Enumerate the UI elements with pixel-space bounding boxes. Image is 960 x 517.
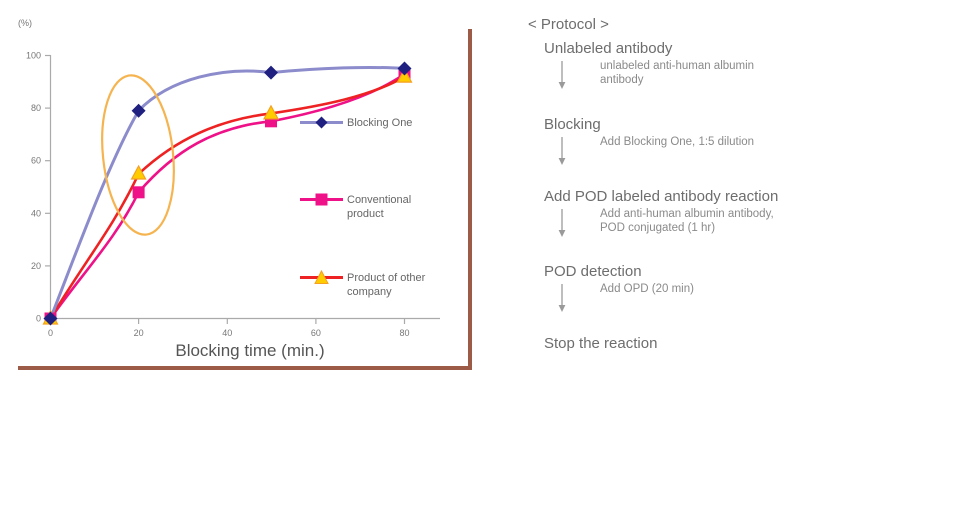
protocol-step-head: Blocking bbox=[544, 116, 950, 133]
protocol-step-1: Unlabeled antibody unlabeled anti-human … bbox=[520, 40, 950, 87]
x-axis-ticks bbox=[51, 319, 405, 325]
legend-item-conventional-product[interactable]: Conventional product bbox=[300, 194, 411, 221]
protocol-step-head: POD detection bbox=[544, 263, 950, 280]
legend: Blocking One Conventional product Produc… bbox=[300, 117, 426, 299]
y-axis-ticks bbox=[45, 56, 51, 319]
protocol-step-head: Add POD labeled antibody reaction bbox=[544, 188, 950, 205]
legend-label: Blocking One bbox=[347, 117, 412, 129]
legend-item-blocking-one[interactable]: Blocking One bbox=[300, 117, 412, 130]
y-tick-label: 40 bbox=[31, 208, 41, 218]
x-tick-label: 0 bbox=[48, 328, 53, 338]
protocol-step-5: Stop the reaction bbox=[520, 335, 950, 352]
x-tick-label: 80 bbox=[399, 328, 409, 338]
legend-label: Conventional bbox=[347, 194, 411, 206]
legend-label: Product of other bbox=[347, 272, 426, 284]
y-axis-unit-label: (%) bbox=[18, 18, 32, 28]
protocol-step-4: POD detection Add OPD (20 min) bbox=[520, 263, 950, 298]
legend-item-product-of-other-company[interactable]: Product of other company bbox=[300, 271, 426, 298]
legend-label-wrap: company bbox=[347, 286, 392, 298]
y-tick-label: 0 bbox=[36, 314, 41, 324]
protocol-step-head: Unlabeled antibody bbox=[544, 40, 950, 57]
y-tick-label: 80 bbox=[31, 103, 41, 113]
marker-square bbox=[133, 186, 145, 198]
down-arrow-icon bbox=[556, 283, 568, 313]
y-axis-tick-labels: 100 80 60 40 20 0 bbox=[26, 51, 41, 324]
protocol-step-note: Add OPD (20 min) bbox=[600, 282, 950, 296]
protocol-title: < Protocol > bbox=[528, 16, 609, 33]
protocol-panel: < Protocol > Unlabeled antibody unlabele… bbox=[520, 0, 950, 400]
legend-marker-square bbox=[316, 194, 328, 206]
marker-diamond bbox=[264, 66, 278, 80]
y-tick-label: 60 bbox=[31, 156, 41, 166]
legend-label-wrap: product bbox=[347, 208, 384, 220]
protocol-step-3: Add POD labeled antibody reaction Add an… bbox=[520, 188, 950, 235]
x-tick-label: 20 bbox=[134, 328, 144, 338]
protocol-step-note: Add anti-human albumin antibody, POD con… bbox=[600, 207, 950, 235]
line-chart: 100 80 60 40 20 0 (%) 0 20 40 60 80 Bloc… bbox=[0, 0, 500, 390]
down-arrow-icon bbox=[556, 208, 568, 238]
x-axis-tick-labels: 0 20 40 60 80 bbox=[48, 328, 410, 338]
down-arrow-icon bbox=[556, 60, 568, 90]
y-tick-label: 100 bbox=[26, 51, 41, 61]
protocol-step-2: Blocking Add Blocking One, 1:5 dilution bbox=[520, 116, 950, 151]
legend-marker-diamond bbox=[316, 117, 328, 129]
protocol-step-head: Stop the reaction bbox=[544, 335, 950, 352]
x-tick-label: 60 bbox=[311, 328, 321, 338]
x-axis-title: Blocking time (min.) bbox=[175, 341, 324, 360]
y-tick-label: 20 bbox=[31, 261, 41, 271]
protocol-step-note: unlabeled anti-human albumin antibody bbox=[600, 59, 950, 87]
highlight-ellipse bbox=[95, 72, 181, 238]
down-arrow-icon bbox=[556, 136, 568, 166]
x-tick-label: 40 bbox=[222, 328, 232, 338]
protocol-step-note: Add Blocking One, 1:5 dilution bbox=[600, 135, 950, 149]
figure-panel: 100 80 60 40 20 0 (%) 0 20 40 60 80 Bloc… bbox=[0, 0, 500, 390]
